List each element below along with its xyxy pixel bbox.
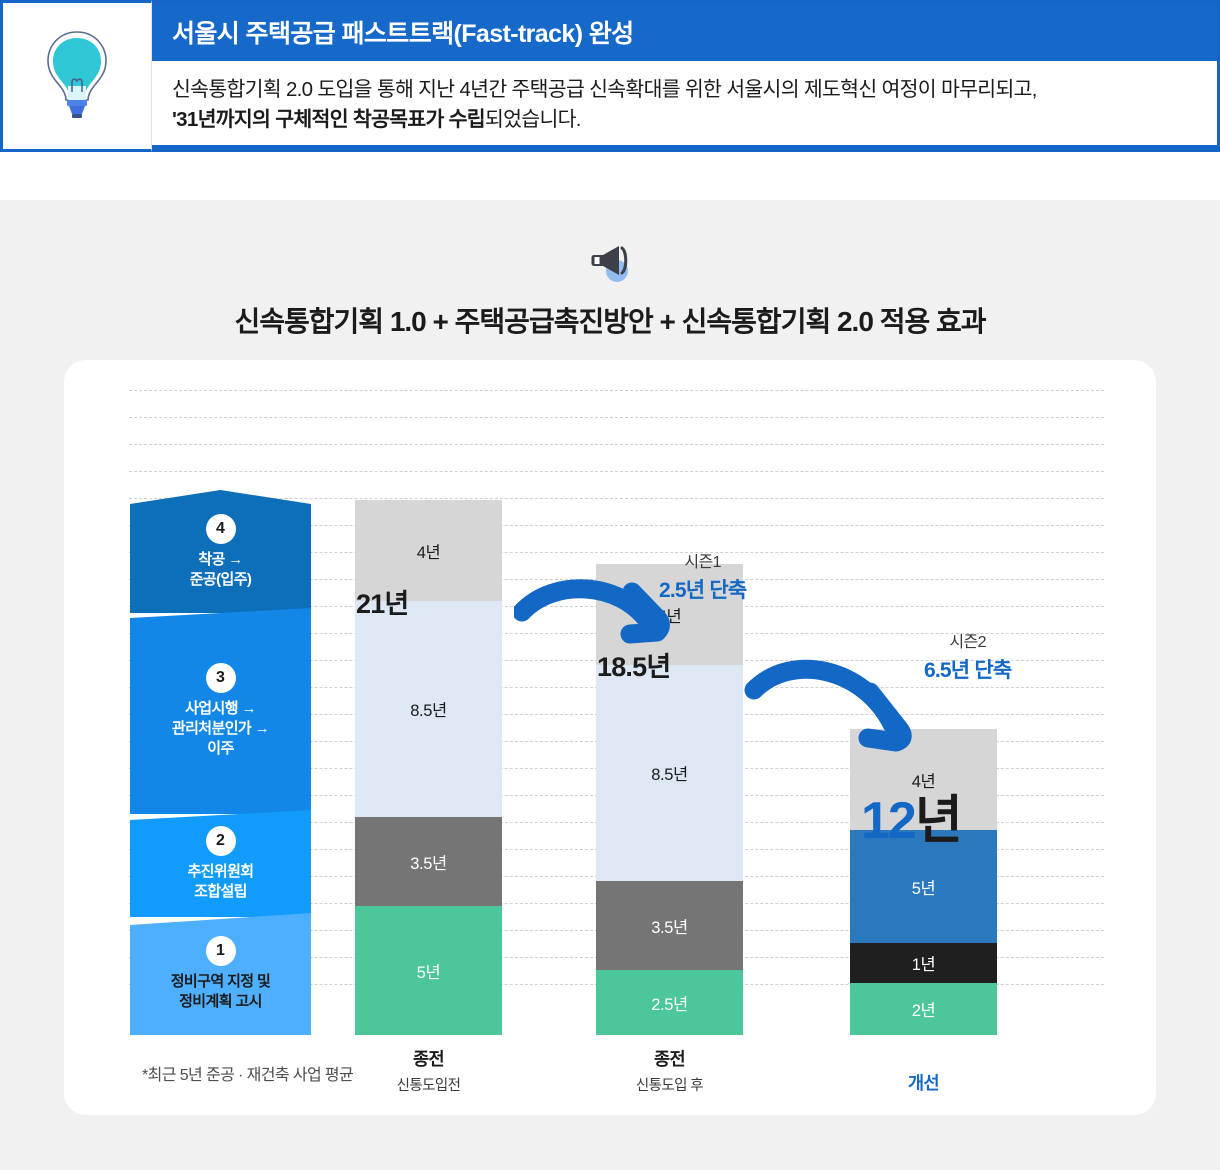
bar-2-segment-stage1: 2.5년 [596,970,743,1035]
stage-label-4: 착공 → 준공(입주) [190,550,252,590]
megaphone-icon [586,273,634,290]
bar-2-segment-stage2: 3.5년 [596,881,743,970]
bar-1-total-label: 21년 [356,582,408,621]
stage-label-1: 정비구역 지정 및 정비계획 고시 [171,972,271,1012]
bar-2-axis-sub: 신통도입 후 [596,1074,743,1095]
stage-item-1: 1 정비구역 지정 및 정비계획 고시 [130,913,311,1035]
banner-body-line1: 신속통합기획 2.0 도입을 통해 지난 4년간 주택공급 신속확대를 위한 서… [172,75,1197,105]
arrow-season-2-icon [744,648,934,763]
stage-number-4: 4 [206,514,236,544]
banner-titlebar: 서울시 주택공급 패스트트랙(Fast-track) 완성 [152,3,1217,61]
chart-footnote: *최근 5년 준공 · 재건축 사업 평균 [142,1061,353,1085]
banner-body-line2: '31년까지의 구체적인 착공목표가 수립되었습니다. [172,105,1197,135]
stage-number-2: 2 [206,826,236,856]
chart-heading: 신속통합기획 1.0 + 주택공급촉진방안 + 신속통합기획 2.0 적용 효과 [0,300,1220,340]
banner-body-line2-tail: 되었습니다. [485,108,581,131]
bar-3-axis-label: 개선 [850,1070,997,1095]
stage-item-4: 4 착공 → 준공(입주) [130,490,311,613]
banner-body-line2-bold: '31년까지의 구체적인 착공목표가 수립 [172,108,485,131]
bar-2-axis-main: 종전 [596,1046,743,1071]
bar-3-total-unit: 년 [915,792,961,850]
bar-1-axis-sub: 신통도입전 [355,1074,502,1095]
bar-1-axis-label: 종전 신통도입전 [355,1046,502,1095]
bar-3-segment-stage2: 1년 [850,943,997,983]
bar-1-segment-stage1: 5년 [355,906,502,1035]
stage-item-2: 2 추진위원회 조합설립 [130,810,311,917]
chart-section: 신속통합기획 1.0 + 주택공급촉진방안 + 신속통합기획 2.0 적용 효과 [0,200,1220,1170]
bar-1-axis-main: 종전 [355,1046,502,1071]
megaphone-icon-container [0,242,1220,291]
annotation-season-2-label: 시즌2 [924,628,1011,652]
banner-body: 신속통합기획 2.0 도입을 통해 지난 4년간 주택공급 신속확대를 위한 서… [152,61,1217,145]
arrow-season-1-icon [514,572,684,667]
banner-title: 서울시 주택공급 패스트트랙(Fast-track) 완성 [172,14,634,50]
stage-number-1: 1 [206,936,236,966]
plot-area: 4 착공 → 준공(입주) 3 사업시행 → 관리처분인가 → 이주 2 추진위… [64,360,1156,1115]
bar-2-axis-label: 종전 신통도입 후 [596,1046,743,1095]
annotation-season-2: 시즌2 6.5년 단축 [924,628,1011,684]
bar-3-total-number: 12 [861,792,915,850]
stage-label-3: 사업시행 → 관리처분인가 → 이주 [172,699,269,758]
chart-card: 4 착공 → 준공(입주) 3 사업시행 → 관리처분인가 → 이주 2 추진위… [64,360,1156,1115]
bar-2-segment-stage3: 8.5년 [596,665,743,881]
bar-3-segment-stage1: 2년 [850,983,997,1035]
bar-3-axis-main: 개선 [850,1070,997,1095]
bar-column-3: 4년 5년 1년 2년 [850,729,997,1035]
stage-label-2: 추진위원회 조합설립 [187,862,253,902]
lightbulb-icon [42,24,112,129]
bar-1-segment-stage3: 8.5년 [355,601,502,817]
bar-1-segment-stage2: 3.5년 [355,817,502,906]
stage-number-3: 3 [206,663,236,693]
stage-funnel: 4 착공 → 준공(입주) 3 사업시행 → 관리처분인가 → 이주 2 추진위… [130,490,311,1035]
bar-column-1: 4년 8.5년 3.5년 5년 [355,500,502,1035]
bar-3-total-label: 12년 [861,778,961,853]
banner-text-container: 서울시 주택공급 패스트트랙(Fast-track) 완성 신속통합기획 2.0… [152,0,1220,148]
stage-item-3: 3 사업시행 → 관리처분인가 → 이주 [130,608,311,814]
annotation-season-2-value: 6.5년 단축 [924,654,1011,684]
header-banner: 서울시 주택공급 패스트트랙(Fast-track) 완성 신속통합기획 2.0… [0,0,1220,152]
annotation-season-1-label: 시즌1 [659,548,746,572]
banner-icon-container [0,0,152,152]
